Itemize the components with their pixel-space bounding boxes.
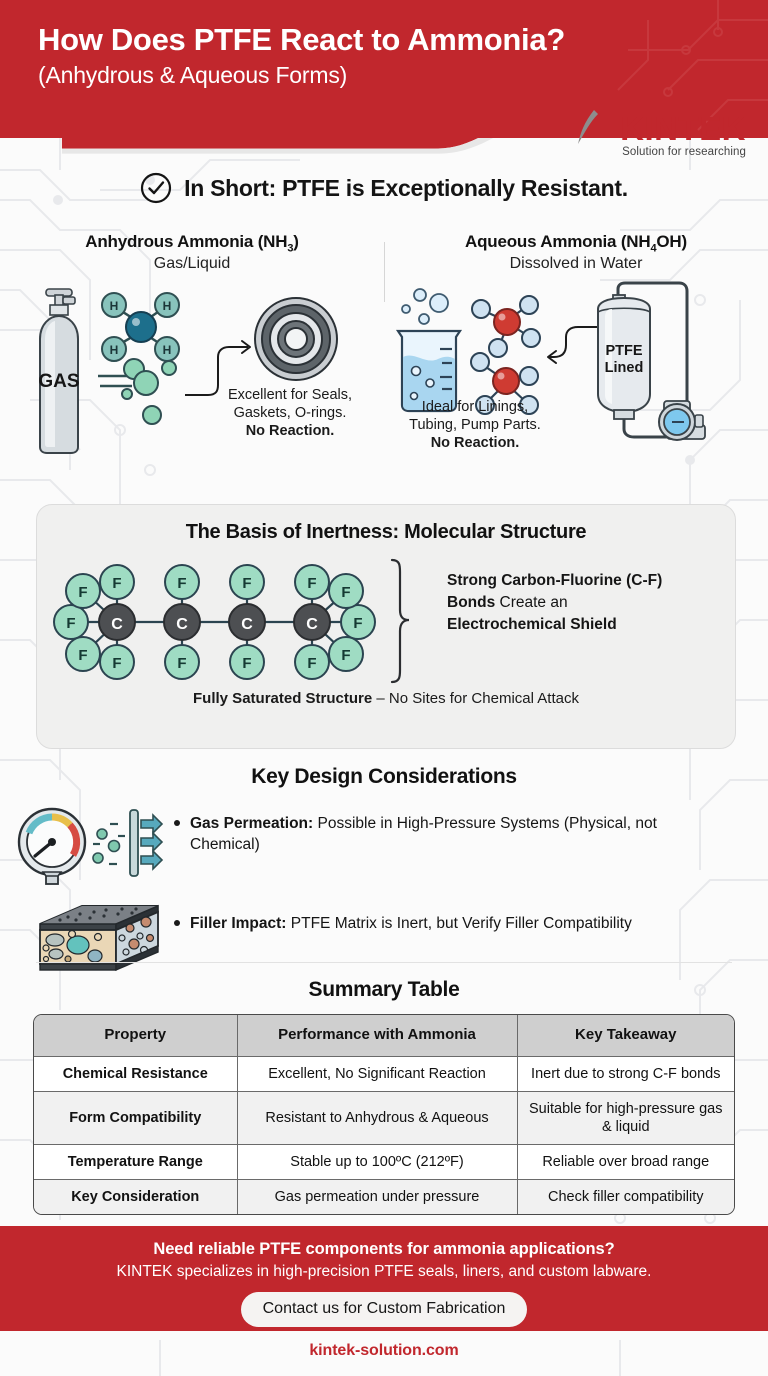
table-cell-takeaway: Check filler compatibility (517, 1180, 734, 1215)
brand-tagline: Solution for researching (556, 146, 746, 158)
key-design-title: Key Design Considerations (0, 765, 768, 789)
svg-text:F: F (78, 584, 87, 601)
table-row: Temperature Range Stable up to 100ºC (21… (34, 1145, 734, 1180)
anhydrous-illustration: GAS H H H (0, 279, 384, 454)
pressure-gauge-permeation-icon (0, 800, 190, 890)
table-cell-property: Key Consideration (34, 1180, 237, 1215)
svg-text:H: H (110, 299, 119, 313)
table-header-takeaway: Key Takeaway (517, 1015, 734, 1056)
molecular-note-bold1: Strong Carbon-Fluorine (C-F) (447, 572, 662, 589)
svg-text:F: F (78, 647, 87, 664)
aqueous-illustration: PTFE Lined Ideal for Linings, Tubin (384, 279, 768, 454)
svg-text:C: C (241, 616, 253, 633)
svg-text:F: F (307, 575, 316, 592)
molecular-structure-panel: The Basis of Inertness: Molecular Struct… (36, 504, 736, 749)
column-aqueous-title: Aqueous Ammonia (NH4OH) (384, 232, 768, 254)
filler-matrix-block-icon (0, 900, 190, 980)
table-header-row: Property Performance with Ammonia Key Ta… (34, 1015, 734, 1056)
page-subtitle: (Anhydrous & Aqueous Forms) (38, 62, 768, 89)
summary-table: Property Performance with Ammonia Key Ta… (34, 1015, 734, 1214)
cta-heading: Need reliable PTFE components for ammoni… (0, 1240, 768, 1259)
molecular-note: Strong Carbon-Fluorine (C-F) Bonds Creat… (447, 570, 717, 636)
svg-text:F: F (341, 647, 350, 664)
tank-label-line2: Lined (605, 360, 644, 376)
ptfe-lined-tank-icon: PTFE Lined (598, 283, 705, 440)
table-cell-property: Chemical Resistance (34, 1056, 237, 1091)
cta-banner: Need reliable PTFE components for ammoni… (0, 1226, 768, 1331)
aqueous-caption-l2: Tubing, Pump Parts. (390, 417, 560, 435)
gas-cylinder-label: GAS (38, 371, 79, 392)
contact-button[interactable]: Contact us for Custom Fabrication (241, 1292, 528, 1327)
key-design-list: Gas Permeation: Possible in High-Pressur… (0, 800, 768, 980)
svg-text:H: H (163, 299, 172, 313)
logo-swoosh-icon (576, 110, 602, 146)
svg-text:F: F (112, 575, 121, 592)
key-design-item-permeation: Gas Permeation: Possible in High-Pressur… (0, 800, 768, 890)
svg-text:F: F (307, 655, 316, 672)
column-aqueous-subtitle: Dissolved in Water (384, 255, 768, 273)
col1-title-main: Aqueous Ammonia (NH (465, 232, 650, 251)
brand-logo: KINTEK Solution for researching (556, 112, 746, 158)
section-divider (36, 962, 732, 963)
tank-label-line1: PTFE (605, 343, 642, 359)
table-cell-property: Form Compatibility (34, 1091, 237, 1144)
column-anhydrous-subtitle: Gas/Liquid (0, 255, 384, 273)
o-ring-seal-icon (255, 298, 337, 380)
ammonia-molecule-icon: H H H H (102, 293, 179, 361)
svg-text:F: F (242, 575, 251, 592)
svg-text:F: F (353, 615, 362, 632)
anhydrous-caption-bold: No Reaction. (246, 423, 335, 439)
col0-title-main: Anhydrous Ammonia (NH (85, 232, 287, 251)
key-design-bold-1: Filler Impact: (190, 915, 286, 932)
table-cell-performance: Resistant to Anhydrous & Aqueous (237, 1091, 517, 1144)
key-design-bold-0: Gas Permeation: (190, 815, 313, 832)
table-row: Key Consideration Gas permeation under p… (34, 1180, 734, 1215)
gas-particles-icon (98, 359, 176, 424)
svg-text:C: C (306, 616, 318, 633)
bullet-icon (174, 820, 180, 826)
svg-text:C: C (176, 616, 188, 633)
table-cell-takeaway: Reliable over broad range (517, 1145, 734, 1180)
molecular-note-bold3: Electrochemical Shield (447, 616, 617, 633)
column-anhydrous: Anhydrous Ammonia (NH3) Gas/Liquid GAS (0, 232, 384, 497)
aqueous-caption-l1: Ideal for Linings, (390, 399, 560, 417)
table-cell-performance: Excellent, No Significant Reaction (237, 1056, 517, 1091)
table-cell-takeaway: Suitable for high-pressure gas & liquid (517, 1091, 734, 1144)
table-cell-property: Temperature Range (34, 1145, 237, 1180)
molecular-note-bold2: Bonds (447, 594, 495, 611)
table-row: Chemical Resistance Excellent, No Signif… (34, 1056, 734, 1091)
gas-cylinder-icon: GAS (38, 289, 79, 453)
col1-title-end: OH) (656, 232, 687, 251)
bullet-icon (174, 920, 180, 926)
col0-title-end: ) (293, 232, 298, 251)
column-aqueous: Aqueous Ammonia (NH4OH) Dissolved in Wat… (384, 232, 768, 497)
column-anhydrous-title: Anhydrous Ammonia (NH3) (0, 232, 384, 254)
summary-table-wrapper: Property Performance with Ammonia Key Ta… (33, 1014, 735, 1215)
table-cell-performance: Stable up to 100ºC (212ºF) (237, 1145, 517, 1180)
svg-text:F: F (177, 655, 186, 672)
svg-text:F: F (177, 575, 186, 592)
svg-text:F: F (242, 655, 251, 672)
cta-paragraph: KINTEK specializes in high-precision PTF… (0, 1263, 768, 1281)
table-cell-takeaway: Inert due to strong C-F bonds (517, 1056, 734, 1091)
key-design-plain-1: PTFE Matrix is Inert, but Verify Filler … (286, 915, 631, 932)
in-short-text: In Short: PTFE is Exceptionally Resistan… (184, 175, 628, 202)
svg-text:F: F (341, 584, 350, 601)
svg-text:F: F (66, 615, 75, 632)
svg-text:C: C (111, 616, 123, 633)
key-design-item-filler: Filler Impact: PTFE Matrix is Inert, but… (0, 900, 768, 980)
comparison-columns: Anhydrous Ammonia (NH3) Gas/Liquid GAS (0, 232, 768, 497)
column-divider (384, 242, 385, 302)
svg-text:F: F (112, 655, 121, 672)
anhydrous-caption: Excellent for Seals, Gaskets, O-rings. N… (200, 387, 380, 440)
key-design-text-filler: Filler Impact: PTFE Matrix is Inert, but… (190, 900, 672, 935)
svg-text:H: H (110, 343, 119, 357)
table-cell-performance: Gas permeation under pressure (237, 1180, 517, 1215)
infographic-page: How Does PTFE React to Ammonia? (Anhydro… (0, 0, 768, 1376)
check-circle-icon (140, 172, 172, 204)
molecular-panel-body: F F F F F F F F F F F F F F C (37, 544, 735, 684)
page-title: How Does PTFE React to Ammonia? (38, 22, 768, 58)
key-design-text-permeation: Gas Permeation: Possible in High-Pressur… (190, 800, 768, 856)
summary-table-title: Summary Table (0, 978, 768, 1002)
table-header-property: Property (34, 1015, 237, 1056)
bubbles-icon (402, 289, 448, 324)
website-url[interactable]: kintek-solution.com (0, 1342, 768, 1360)
table-row: Form Compatibility Resistant to Anhydrou… (34, 1091, 734, 1144)
table-header-performance: Performance with Ammonia (237, 1015, 517, 1056)
anhydrous-caption-l1: Excellent for Seals, (200, 387, 380, 405)
molecular-panel-title: The Basis of Inertness: Molecular Struct… (37, 521, 735, 544)
molecular-note-plain: Create an (495, 594, 567, 611)
aqueous-molecules-icon (471, 296, 540, 414)
in-short-banner: In Short: PTFE is Exceptionally Resistan… (0, 172, 768, 204)
ptfe-chain-diagram: F F F F F F F F F F F F F F C (47, 548, 447, 693)
anhydrous-caption-l2: Gaskets, O-rings. (200, 405, 380, 423)
aqueous-caption: Ideal for Linings, Tubing, Pump Parts. N… (390, 399, 560, 452)
aqueous-caption-bold: No Reaction. (431, 435, 520, 451)
svg-text:H: H (163, 343, 172, 357)
